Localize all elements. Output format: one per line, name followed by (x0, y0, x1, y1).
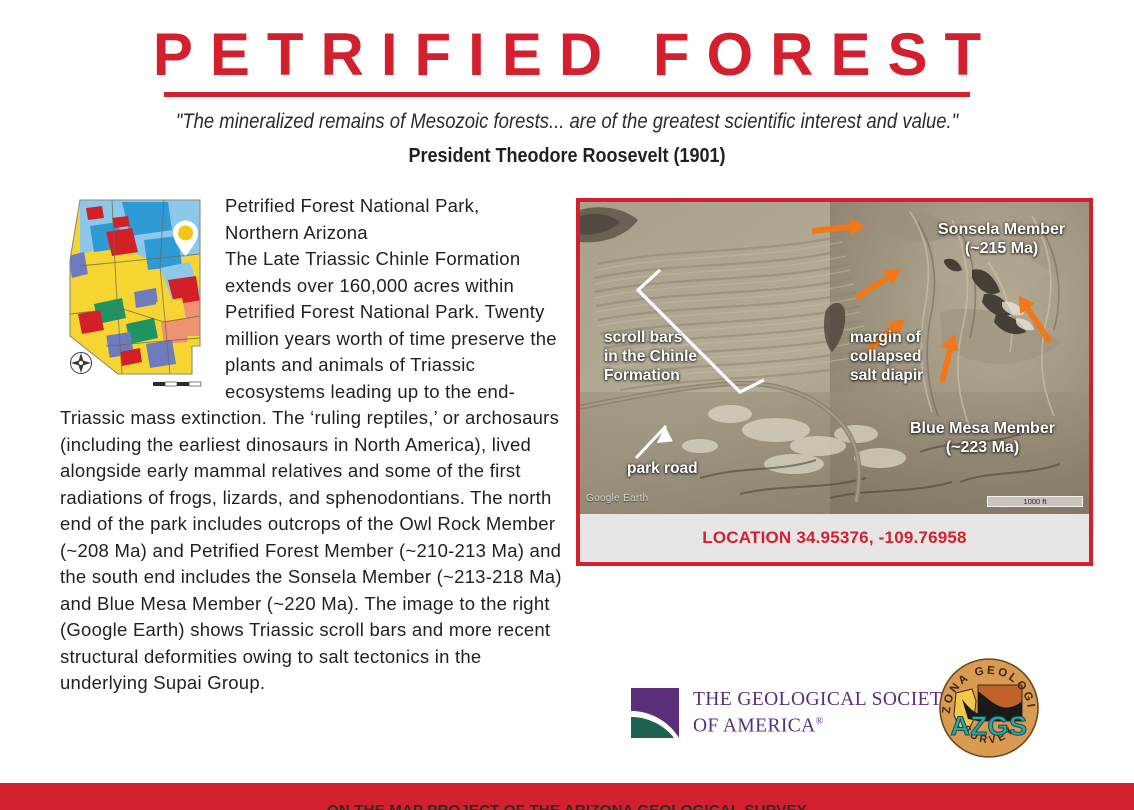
label-bluemesa-line2: (~223 Ma) (946, 439, 1019, 456)
gsa-wordmark: THE GEOLOGICAL SOCIETY OF AMERICA® (693, 689, 957, 738)
compass-rose-icon (71, 353, 92, 374)
page-title: PETRIFIED FOREST (0, 24, 1134, 86)
arizona-geologic-map-inset (60, 196, 215, 394)
label-margin-line2: collapsed (850, 348, 922, 365)
gsa-logo-mark-icon (630, 687, 680, 739)
label-scroll-bars: scroll bars in the Chinle Formation (604, 328, 697, 385)
label-park-road: park road (627, 459, 698, 478)
quote-block: "The mineralized remains of Mesozoic for… (0, 108, 1134, 168)
satellite-image-panel: Sonsela Member (~215 Ma) Blue Mesa Membe… (576, 198, 1093, 566)
google-earth-watermark: Google Earth (586, 493, 649, 504)
label-sonsela-member: Sonsela Member (~215 Ma) (938, 220, 1065, 258)
map-scale-bar (153, 382, 201, 386)
azgs-logo: ARIZONA GEOLOGICAL SURVEY AZGS (938, 657, 1040, 759)
photo-scale-bar-label: 1000 ft (987, 496, 1083, 507)
roosevelt-quote: "The mineralized remains of Mesozoic for… (68, 108, 1066, 136)
label-scrollbars-line3: Formation (604, 367, 680, 384)
left-text-column: Petrified Forest National Park, Northern… (60, 193, 565, 697)
gsa-logo: THE GEOLOGICAL SOCIETY OF AMERICA® (630, 687, 957, 739)
label-sonsela-line1: Sonsela Member (938, 221, 1065, 238)
label-scrollbars-line1: scroll bars (604, 329, 682, 346)
quote-attribution: President Theodore Roosevelt (1901) (57, 145, 1078, 168)
label-scrollbars-line2: in the Chinle (604, 348, 697, 365)
location-caption-text: LOCATION 34.95376, -109.76958 (702, 528, 966, 548)
azgs-initials-text: AZGS (950, 711, 1027, 741)
label-blue-mesa-member: Blue Mesa Member (~223 Ma) (910, 419, 1055, 457)
location-caption-bar: LOCATION 34.95376, -109.76958 (580, 514, 1089, 562)
title-underline-rule (164, 92, 970, 97)
footer-bar-text: ON THE MAP PROJECT OF THE ARIZONA GEOLOG… (0, 802, 1134, 810)
label-collapsed-salt-diapir: margin of collapsed salt diapir (850, 328, 923, 385)
label-sonsela-line2: (~215 Ma) (965, 240, 1038, 257)
label-bluemesa-line1: Blue Mesa Member (910, 420, 1055, 437)
label-margin-line3: salt diapir (850, 367, 923, 384)
gsa-wordmark-line2: OF AMERICA (693, 715, 816, 736)
gsa-wordmark-line1: THE GEOLOGICAL SOCIETY (693, 689, 957, 710)
arizona-map-svg (60, 196, 215, 394)
registered-trademark-icon: ® (816, 716, 824, 727)
poster-header: PETRIFIED FOREST (0, 24, 1134, 97)
label-margin-line1: margin of (850, 329, 921, 346)
footer-bar: ON THE MAP PROJECT OF THE ARIZONA GEOLOG… (0, 783, 1134, 810)
